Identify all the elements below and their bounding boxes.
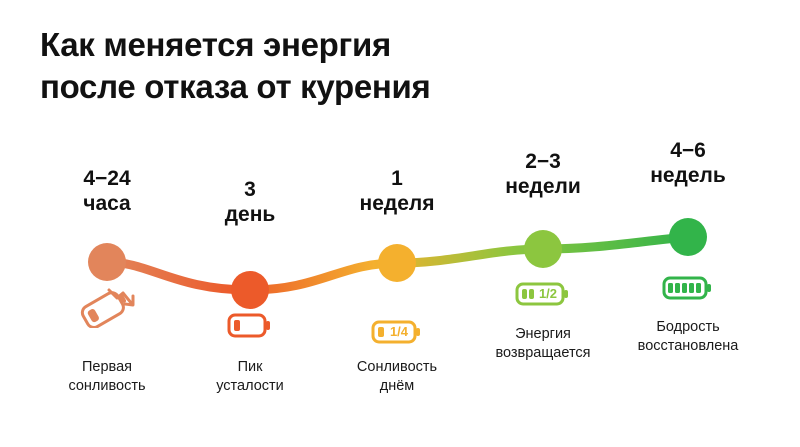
battery-half-label: 1/2 — [539, 286, 557, 301]
data-point-2 — [231, 271, 269, 309]
time-label-1: 4−24 часа — [83, 167, 131, 216]
caption-3: Сонливость днём — [357, 358, 437, 396]
time-label-5: 4−6 недель — [650, 139, 726, 188]
data-point-3 — [378, 244, 416, 282]
battery-half-icon: 1/2 — [515, 281, 571, 307]
time-label-2: 3 день — [225, 178, 276, 227]
battery-quarter-icon: 1/4 — [371, 319, 423, 345]
battery-quarter-label: 1/4 — [390, 324, 409, 339]
energy-recovery-infographic: Как меняется энергия после отказа от кур… — [0, 0, 800, 447]
caption-1: Первая сонливость — [68, 358, 145, 396]
battery-empty-icon — [227, 311, 273, 339]
data-point-1 — [88, 243, 126, 281]
time-label-4: 2−3 недели — [505, 150, 581, 199]
battery-declining-icon — [79, 284, 141, 328]
caption-2: Пик усталости — [216, 358, 284, 396]
data-point-5 — [669, 218, 707, 256]
data-point-4 — [524, 230, 562, 268]
caption-4: Энергия возвращается — [495, 325, 590, 363]
battery-full-icon — [662, 275, 714, 301]
caption-5: Бодрость восстановлена — [638, 318, 739, 356]
time-label-3: 1 неделя — [360, 167, 435, 216]
